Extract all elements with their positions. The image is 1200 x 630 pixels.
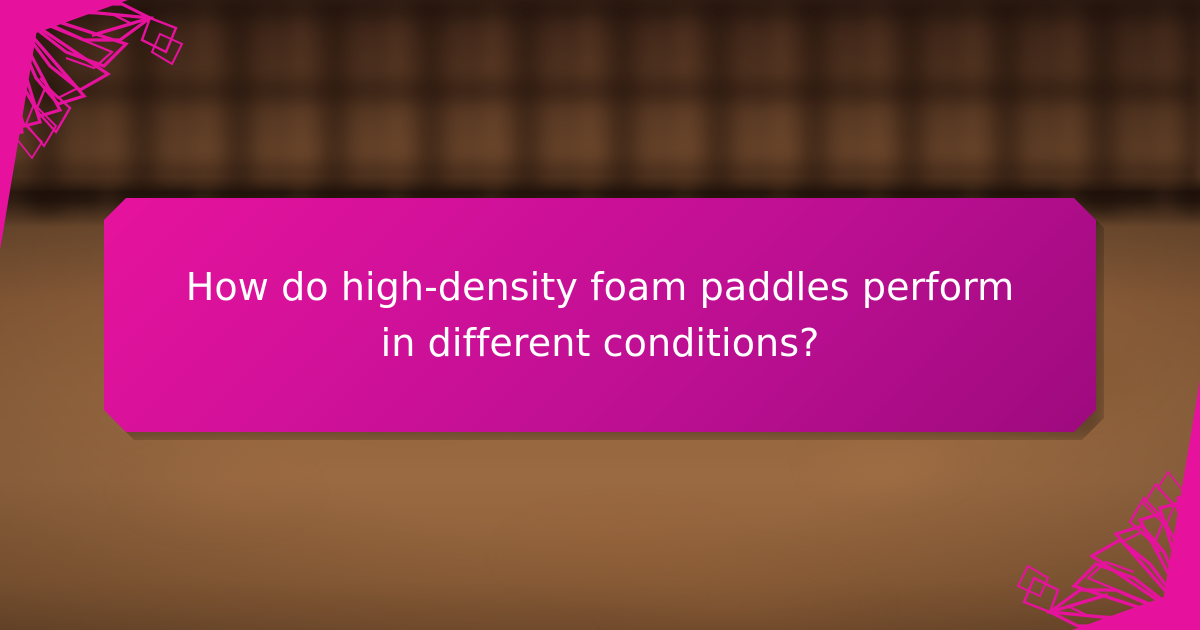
headline-text: How do high-density foam paddles perform… <box>116 259 1085 371</box>
social-card-canvas: How do high-density foam paddles perform… <box>0 0 1200 630</box>
headline-banner: How do high-density foam paddles perform… <box>104 198 1096 432</box>
